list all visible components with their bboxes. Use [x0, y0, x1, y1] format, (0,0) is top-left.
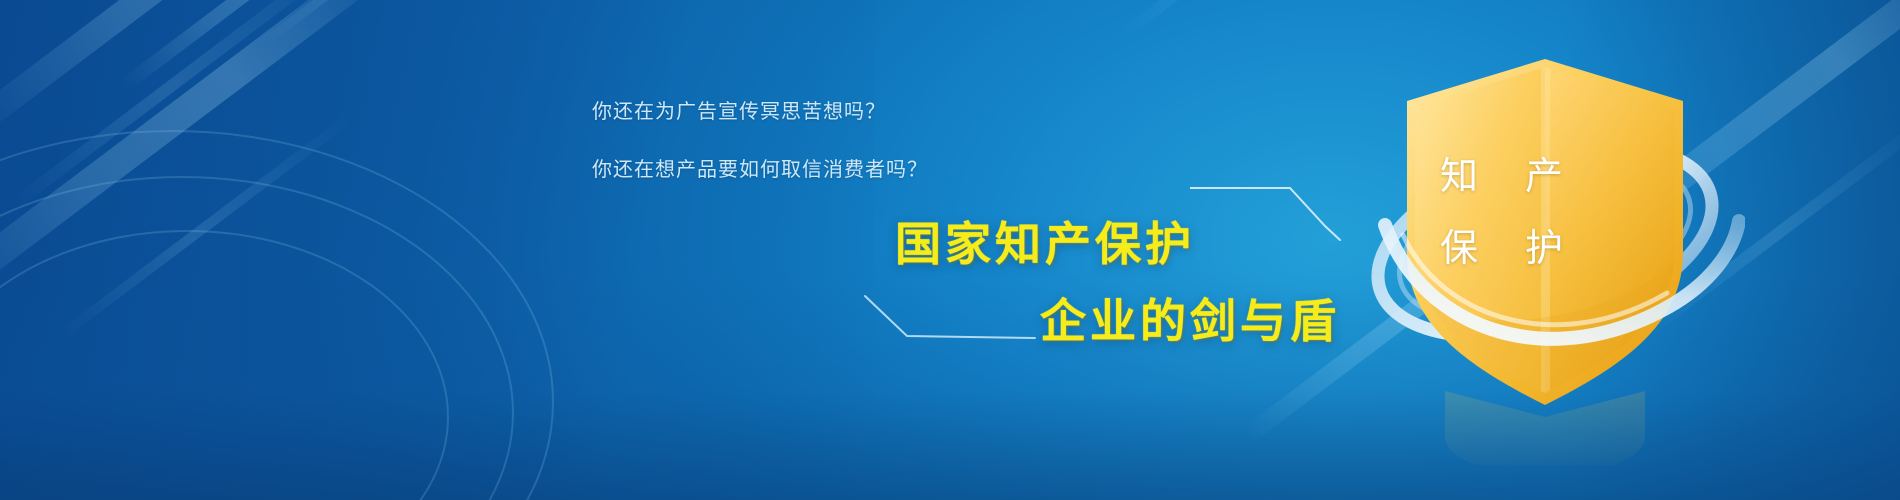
promo-banner: 你还在为广告宣传冥思苦想吗？ 你还在想产品要如何取信消费者吗？ 国家知产保护 企… — [0, 0, 1900, 500]
copy-block: 你还在为广告宣传冥思苦想吗？ 你还在想产品要如何取信消费者吗？ 国家知产保护 企… — [0, 0, 1400, 500]
shield-badge-icon: 知 产 保 护 — [1345, 45, 1745, 465]
headline-primary: 国家知产保护 — [895, 208, 1195, 274]
subheading-line-2: 你还在想产品要如何取信消费者吗？ — [592, 153, 928, 182]
headline-secondary: 企业的剑与盾 — [1040, 285, 1340, 351]
subheading-line-1: 你还在为广告宣传冥思苦想吗？ — [592, 95, 886, 124]
